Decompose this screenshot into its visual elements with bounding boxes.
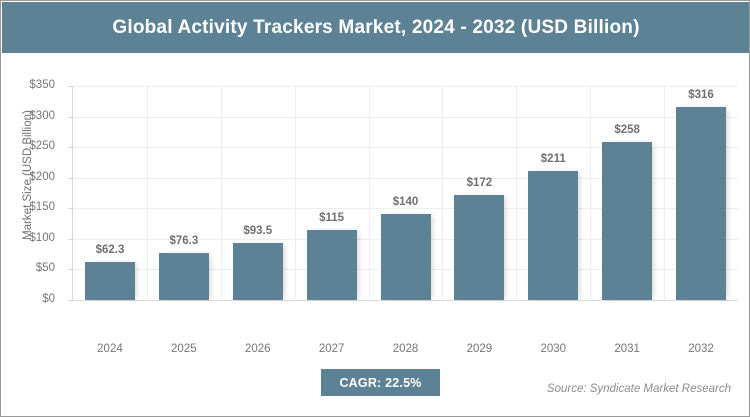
bar-value-label-2024: $62.3: [70, 244, 150, 256]
x-tick-label-2031: 2031: [587, 343, 667, 355]
gridline-x: [369, 86, 370, 300]
bar-2025[interactable]: [159, 253, 209, 300]
gridline-x: [295, 86, 296, 300]
y-tick-label: $150: [29, 201, 55, 213]
bar-2027[interactable]: [307, 230, 357, 300]
x-tick-label-2026: 2026: [218, 343, 298, 355]
bar-value-label-2028: $140: [366, 196, 446, 208]
y-tick-label: $300: [29, 110, 55, 122]
y-tick-mark: [68, 147, 73, 148]
bar-2024[interactable]: [85, 262, 135, 300]
bar-value-label-2027: $115: [292, 212, 372, 224]
bar-value-label-2031: $258: [587, 124, 667, 136]
gridline-x: [664, 86, 665, 300]
x-tick-label-2025: 2025: [144, 343, 224, 355]
y-tick-label: $250: [29, 140, 55, 152]
x-tick-label-2030: 2030: [513, 343, 593, 355]
gridline-x: [221, 86, 222, 300]
bar-2030[interactable]: [528, 171, 578, 300]
x-tick-label-2027: 2027: [292, 343, 372, 355]
gridline-x: [147, 86, 148, 300]
y-tick-mark: [68, 269, 73, 270]
bar-value-label-2029: $172: [439, 177, 519, 189]
y-tick-mark: [68, 208, 73, 209]
bar-2032[interactable]: [676, 107, 726, 300]
page-title: Global Activity Trackers Market, 2024 - …: [112, 17, 639, 39]
bar-2026[interactable]: [233, 243, 283, 300]
bar-value-label-2025: $76.3: [144, 235, 224, 247]
y-tick-label: $0: [42, 293, 55, 305]
y-tick-label: $50: [36, 262, 55, 274]
source-note: Source: Syndicate Market Research: [547, 383, 731, 395]
plot-area: $0$50$100$150$200$250$300$350$62.32024$7…: [72, 86, 737, 300]
chart-body: Market Size (USD Billion) $0$50$100$150$…: [2, 53, 750, 358]
gridline-x: [442, 86, 443, 300]
chart-page: Global Activity Trackers Market, 2024 - …: [0, 0, 750, 417]
bar-value-label-2032: $316: [661, 89, 741, 101]
x-tick-label-2032: 2032: [661, 343, 741, 355]
gridline-y: [73, 117, 738, 118]
gridline-y: [73, 300, 738, 301]
cagr-badge: CAGR: 22.5%: [321, 369, 440, 396]
y-tick-mark: [68, 117, 73, 118]
y-tick-mark: [68, 178, 73, 179]
bar-2028[interactable]: [381, 214, 431, 300]
bar-2029[interactable]: [454, 195, 504, 300]
y-tick-label: $200: [29, 171, 55, 183]
chart-header: Global Activity Trackers Market, 2024 - …: [2, 2, 750, 53]
y-tick-label: $350: [29, 79, 55, 91]
gridline-x: [516, 86, 517, 300]
y-tick-mark: [68, 86, 73, 87]
bar-value-label-2026: $93.5: [218, 225, 298, 237]
x-tick-label-2029: 2029: [439, 343, 519, 355]
y-tick-mark: [68, 300, 73, 301]
gridline-y: [73, 86, 738, 87]
y-tick-label: $100: [29, 232, 55, 244]
gridline-x: [590, 86, 591, 300]
x-tick-label-2024: 2024: [70, 343, 150, 355]
x-tick-label-2028: 2028: [366, 343, 446, 355]
bar-value-label-2030: $211: [513, 153, 593, 165]
y-tick-mark: [68, 239, 73, 240]
bar-2031[interactable]: [602, 142, 652, 300]
